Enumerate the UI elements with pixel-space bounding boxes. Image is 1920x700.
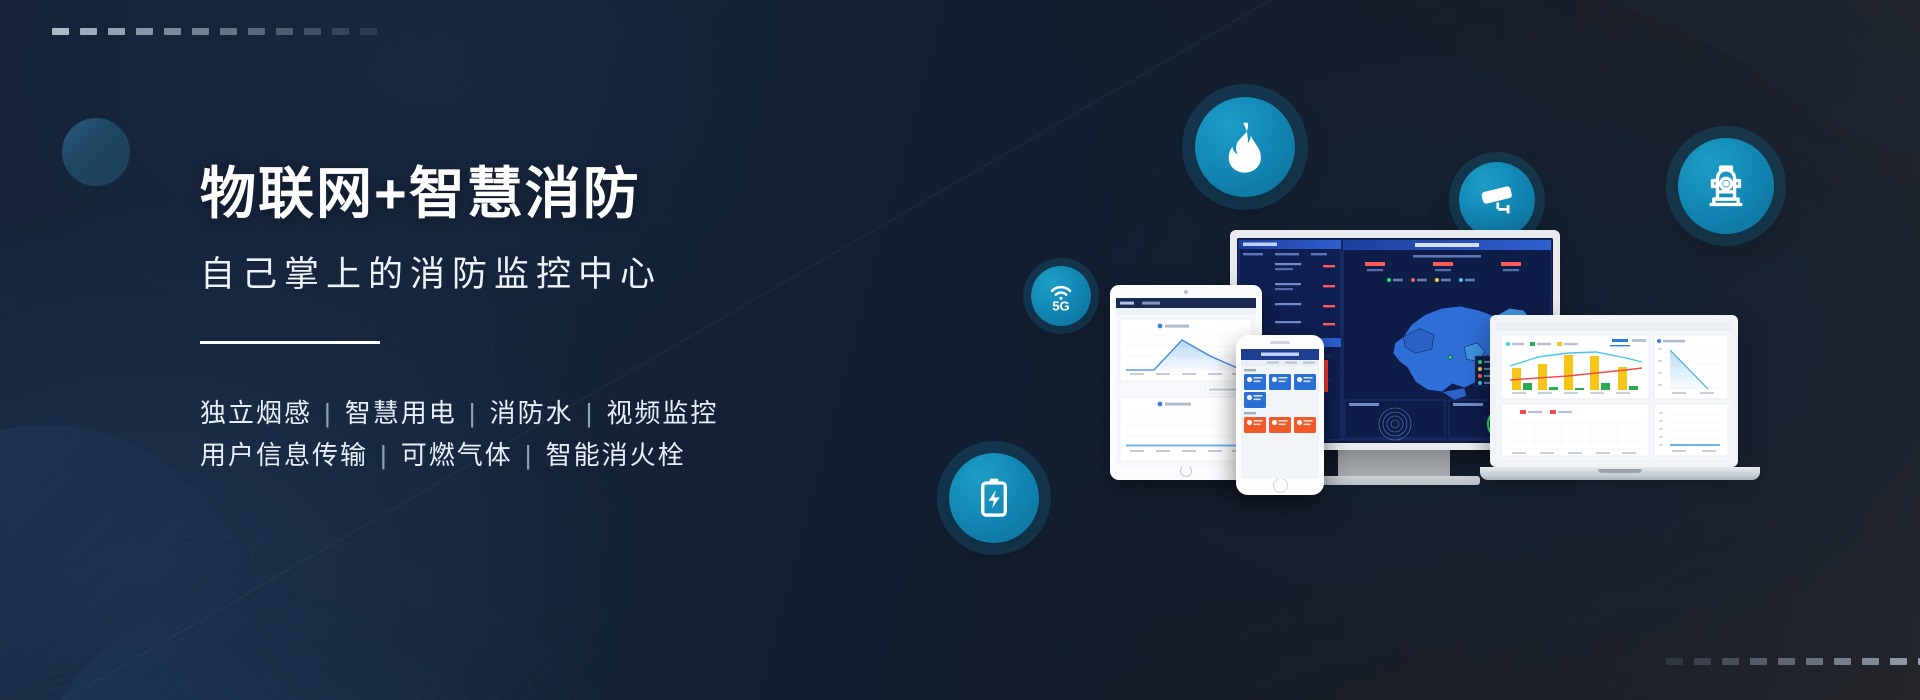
battery-charge-icon[interactable] [949,453,1039,543]
device-mockup-group [1110,230,1810,570]
5g-signal-icon[interactable]: 5G [1031,266,1091,326]
decor-dash [1666,658,1683,665]
hero-copy: 物联网+智慧消防 自己掌上的消防监控中心 独立烟感|智慧用电|消防水|视频监控用… [200,160,940,477]
decor-dash [1834,658,1851,665]
divider [200,341,380,344]
decor-dash [220,28,237,35]
fire-hydrant-icon [1699,159,1753,213]
feature-separator: | [312,398,345,428]
decor-dash [1722,658,1739,665]
decor-dash [52,28,69,35]
monitor-stand [1338,450,1450,476]
decor-dash [1806,658,1823,665]
decor-dash [108,28,125,35]
feature-item[interactable]: 消防水 [490,398,574,428]
feature-row: 独立烟感|智慧用电|消防水|视频监控 [200,392,940,434]
page-subtitle: 自己掌上的消防监控中心 [200,246,940,297]
feature-separator: | [457,398,490,428]
feature-item[interactable]: 独立烟感 [200,398,312,428]
decor-dash [276,28,293,35]
cctv-camera-icon [1476,179,1519,222]
laptop-screen [1496,322,1732,460]
flame-icon[interactable] [1195,97,1295,197]
decor-dash [1862,658,1879,665]
decor-circle-left [62,118,130,186]
phone-speaker [1270,341,1290,344]
phone-home-button[interactable] [1273,478,1288,493]
feature-item[interactable]: 用户信息传输 [200,440,368,470]
tablet-screen [1116,298,1256,467]
decor-dash [1890,658,1907,665]
laptop-lid [1490,315,1738,467]
5g-signal-icon: 5G [1044,279,1078,313]
laptop-dashboard [1496,322,1732,460]
battery-charge-icon [969,473,1019,523]
page-title: 物联网+智慧消防 [200,160,940,228]
decor-dash [304,28,321,35]
decor-dash [360,28,377,35]
mobile-phone [1236,335,1324,495]
decor-dash [248,28,265,35]
decor-dash [192,28,209,35]
decor-dash [332,28,349,35]
feature-separator: | [574,398,607,428]
flame-icon [1217,119,1273,175]
feature-separator: | [513,440,546,470]
cctv-camera-icon[interactable] [1459,162,1535,238]
fire-hydrant-icon[interactable] [1678,138,1774,234]
decor-dash [1694,658,1711,665]
svg-text:5G: 5G [1052,298,1069,313]
feature-item[interactable]: 视频监控 [606,398,718,428]
decor-dashes-top-left [52,28,377,35]
feature-separator: | [368,440,401,470]
monitor-base [1308,476,1480,485]
decor-dashes-bottom-right [1666,658,1920,665]
feature-item[interactable]: 智慧用电 [345,398,457,428]
decor-dash [164,28,181,35]
phone-screen [1241,349,1319,479]
decor-dash [136,28,153,35]
decor-dash [1750,658,1767,665]
laptop-device [1490,315,1750,480]
feature-list: 独立烟感|智慧用电|消防水|视频监控用户信息传输|可燃气体|智能消火栓 [200,392,940,476]
phone-app-screen [1241,349,1319,479]
decor-dash [80,28,97,35]
banner-stage: 物联网+智慧消防 自己掌上的消防监控中心 独立烟感|智慧用电|消防水|视频监控用… [0,0,1920,700]
laptop-trackpad-notch [1598,469,1642,473]
tablet-camera-dot [1184,290,1188,294]
feature-row: 用户信息传输|可燃气体|智能消火栓 [200,434,940,476]
feature-item[interactable]: 可燃气体 [401,440,513,470]
decor-dash [1778,658,1795,665]
tablet-dashboard [1116,298,1256,467]
feature-item[interactable]: 智能消火栓 [546,440,686,470]
